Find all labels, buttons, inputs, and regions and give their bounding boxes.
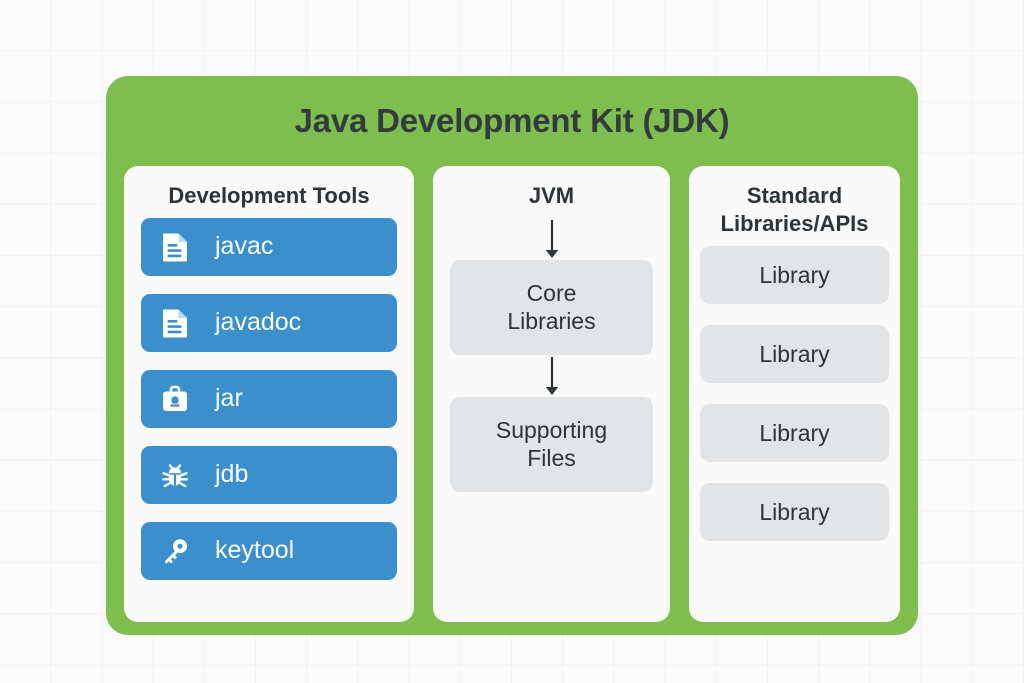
document-icon [160, 232, 190, 262]
panel-heading-development-tools: Development Tools [168, 182, 369, 210]
library-box: Library [700, 325, 889, 383]
tool-label: jdb [215, 462, 248, 487]
panel-heading-standard-libraries: Standard Libraries/APIs [721, 182, 869, 238]
tool-item-jar[interactable]: jar [141, 370, 397, 428]
arrow-down-icon [543, 218, 561, 260]
tool-item-javadoc[interactable]: javadoc [141, 294, 397, 352]
panel-jvm: JVM Core Libraries Supporting Files [433, 166, 670, 622]
tool-label: javadoc [215, 310, 301, 335]
briefcase-icon [160, 384, 190, 414]
tool-label: javac [215, 234, 273, 259]
jdk-container: Java Development Kit (JDK) Development T… [106, 76, 918, 635]
library-list: Library Library Library Library [689, 246, 900, 541]
jvm-box-core-libraries: Core Libraries [450, 260, 653, 355]
library-box: Library [700, 404, 889, 462]
key-icon [160, 536, 190, 566]
library-box: Library [700, 483, 889, 541]
jvm-box-supporting-files: Supporting Files [450, 397, 653, 492]
columns-row: Development Tools javac [106, 166, 918, 635]
tool-item-jdb[interactable]: jdb [141, 446, 397, 504]
tool-label: jar [215, 386, 243, 411]
jvm-flow: Core Libraries Supporting Files [433, 218, 670, 492]
page-title: Java Development Kit (JDK) [106, 76, 918, 166]
diagram-canvas: Java Development Kit (JDK) Development T… [0, 0, 1024, 683]
tool-label: keytool [215, 538, 294, 563]
tool-item-javac[interactable]: javac [141, 218, 397, 276]
panel-development-tools: Development Tools javac [124, 166, 414, 622]
library-box: Library [700, 246, 889, 304]
tools-list: javac javadoc [124, 218, 414, 580]
document-icon [160, 308, 190, 338]
arrow-down-icon [543, 355, 561, 397]
panel-standard-libraries: Standard Libraries/APIs Library Library … [689, 166, 900, 622]
bug-icon [160, 460, 190, 490]
tool-item-keytool[interactable]: keytool [141, 522, 397, 580]
panel-heading-jvm: JVM [529, 182, 574, 210]
